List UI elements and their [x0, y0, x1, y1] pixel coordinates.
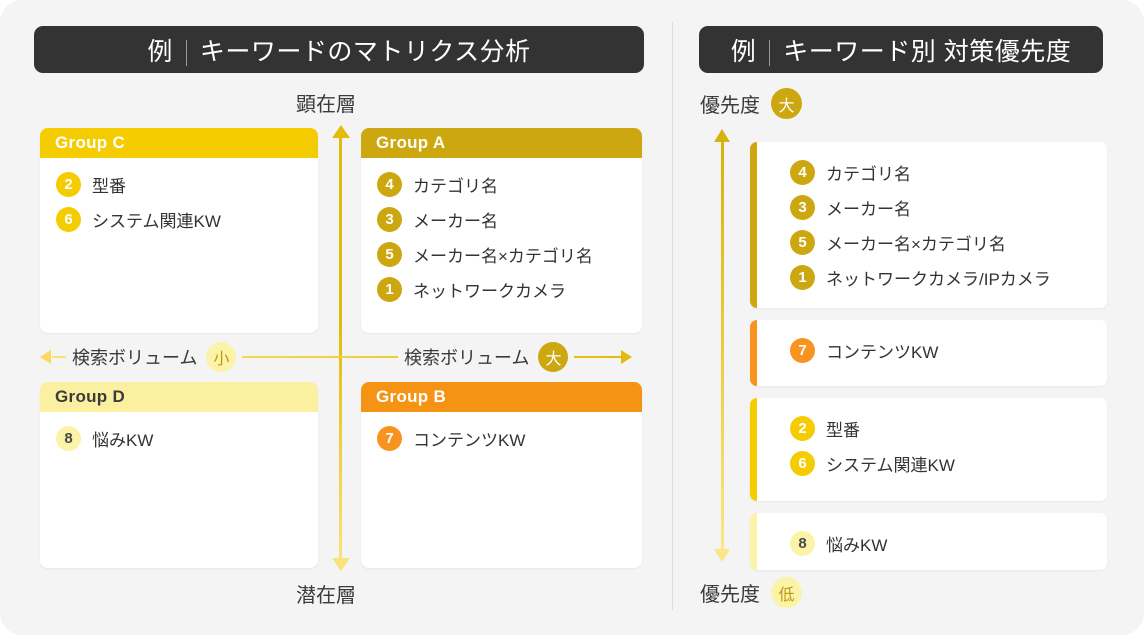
keyword-row: 3メーカー名 [361, 202, 642, 237]
vertical-axis-line [339, 131, 342, 561]
keyword-row: 6システム関連KW [40, 202, 318, 237]
matrix-card-group-c[interactable]: Group C2型番6システム関連KW [40, 128, 318, 333]
keyword-number-badge: 8 [790, 531, 815, 556]
card-body: 4カテゴリ名3メーカー名5メーカー名×カテゴリ名1ネットワークカメラ [361, 158, 642, 307]
right-panel-title-prefix: 例 [731, 32, 757, 68]
arrow-right-icon [621, 350, 632, 364]
keyword-number-badge: 7 [377, 426, 402, 451]
priority-arrow-down-icon [714, 549, 730, 562]
card-body: 2型番6システム関連KW [40, 158, 318, 237]
keyword-row: 1ネットワークカメラ/IPカメラ [774, 260, 1107, 295]
card-header: Group B [361, 382, 642, 412]
keyword-row: 2型番 [774, 411, 1107, 446]
volume-large-text: 検索ボリューム [404, 344, 529, 370]
keyword-number-badge: 3 [377, 207, 402, 232]
keyword-label: コンテンツKW [413, 426, 525, 451]
keyword-row: 5メーカー名×カテゴリ名 [774, 225, 1107, 260]
volume-small-badge: 小 [206, 342, 236, 372]
priority-high-label: 優先度 大 [700, 88, 802, 119]
priority-high-badge: 大 [771, 88, 802, 119]
keyword-label: カテゴリ名 [413, 172, 498, 197]
keyword-label: 型番 [826, 416, 860, 441]
keyword-row: 1ネットワークカメラ [361, 272, 642, 307]
keyword-label: ネットワークカメラ/IPカメラ [826, 265, 1051, 290]
axis-label-bottom: 潜在層 [296, 579, 356, 608]
keyword-label: メーカー名 [413, 207, 498, 232]
keyword-row: 3メーカー名 [774, 190, 1107, 225]
priority-low-text: 優先度 [700, 578, 760, 607]
keyword-row: 5メーカー名×カテゴリ名 [361, 237, 642, 272]
diagram-canvas: 例 キーワードのマトリクス分析 例 キーワード別 対策優先度 顕在層 潜在層 検… [0, 0, 1144, 635]
left-panel-title-prefix: 例 [147, 32, 173, 68]
keyword-row: 2型番 [40, 167, 318, 202]
card-header: Group C [40, 128, 318, 158]
priority-card-list: 7コンテンツKW [750, 320, 1107, 381]
left-panel-title-text: キーワードのマトリクス分析 [200, 32, 531, 68]
title-separator [186, 40, 187, 66]
priority-arrow-up-icon [714, 129, 730, 142]
right-panel-title: 例 キーワード別 対策優先度 [699, 26, 1103, 73]
keyword-number-badge: 2 [56, 172, 81, 197]
priority-color-edge [750, 320, 757, 386]
keyword-row: 7コンテンツKW [774, 333, 1107, 368]
keyword-label: メーカー名 [826, 195, 911, 220]
left-panel-title: 例 キーワードのマトリクス分析 [34, 26, 644, 73]
panel-divider [672, 22, 673, 610]
priority-card-list: 8悩みKW [750, 513, 1107, 570]
priority-card-list: 2型番6システム関連KW [750, 398, 1107, 494]
priority-low-label: 優先度 低 [700, 577, 802, 608]
priority-color-edge [750, 398, 757, 501]
axis-label-top: 顕在層 [296, 88, 356, 117]
priority-axis-line [721, 140, 724, 550]
keyword-number-badge: 5 [377, 242, 402, 267]
keyword-row: 8悩みKW [40, 421, 318, 456]
keyword-label: 型番 [92, 172, 126, 197]
arrow-left-icon [40, 350, 51, 364]
keyword-label: コンテンツKW [826, 338, 938, 363]
card-header: Group D [40, 382, 318, 412]
keyword-number-badge: 8 [56, 426, 81, 451]
title-separator [769, 40, 770, 66]
card-body: 7コンテンツKW [361, 412, 642, 456]
keyword-number-badge: 3 [790, 195, 815, 220]
matrix-card-group-b[interactable]: Group B7コンテンツKW [361, 382, 642, 568]
keyword-label: メーカー名×カテゴリ名 [826, 230, 1006, 255]
keyword-number-badge: 4 [377, 172, 402, 197]
priority-high-text: 優先度 [700, 89, 760, 118]
priority-card-list: 4カテゴリ名3メーカー名5メーカー名×カテゴリ名1ネットワークカメラ/IPカメラ [750, 142, 1107, 308]
keyword-number-badge: 1 [377, 277, 402, 302]
keyword-number-badge: 6 [790, 451, 815, 476]
keyword-label: システム関連KW [826, 451, 955, 476]
keyword-number-badge: 2 [790, 416, 815, 441]
keyword-number-badge: 1 [790, 265, 815, 290]
priority-card[interactable]: 2型番6システム関連KW [750, 398, 1107, 501]
keyword-number-badge: 5 [790, 230, 815, 255]
priority-color-edge [750, 142, 757, 308]
keyword-number-badge: 4 [790, 160, 815, 185]
keyword-row: 4カテゴリ名 [774, 155, 1107, 190]
priority-low-badge: 低 [771, 577, 802, 608]
matrix-card-group-a[interactable]: Group A4カテゴリ名3メーカー名5メーカー名×カテゴリ名1ネットワークカメ… [361, 128, 642, 333]
keyword-number-badge: 6 [56, 207, 81, 232]
keyword-row: 6システム関連KW [774, 446, 1107, 481]
volume-large-label: 検索ボリューム 大 [398, 342, 574, 372]
keyword-row: 8悩みKW [774, 526, 1107, 561]
priority-card[interactable]: 8悩みKW [750, 513, 1107, 570]
keyword-label: ネットワークカメラ [413, 277, 566, 302]
keyword-label: システム関連KW [92, 207, 221, 232]
arrow-down-icon [332, 558, 350, 571]
keyword-row: 4カテゴリ名 [361, 167, 642, 202]
keyword-row: 7コンテンツKW [361, 421, 642, 456]
arrow-up-icon [332, 125, 350, 138]
volume-small-text: 検索ボリューム [72, 344, 197, 370]
keyword-label: 悩みKW [92, 426, 153, 451]
card-body: 8悩みKW [40, 412, 318, 456]
keyword-label: カテゴリ名 [826, 160, 911, 185]
volume-small-label: 検索ボリューム 小 [66, 342, 242, 372]
card-header: Group A [361, 128, 642, 158]
priority-color-edge [750, 513, 757, 570]
right-panel-title-text: キーワード別 対策優先度 [783, 32, 1071, 68]
priority-card[interactable]: 7コンテンツKW [750, 320, 1107, 386]
keyword-label: メーカー名×カテゴリ名 [413, 242, 593, 267]
priority-card[interactable]: 4カテゴリ名3メーカー名5メーカー名×カテゴリ名1ネットワークカメラ/IPカメラ [750, 142, 1107, 308]
volume-large-badge: 大 [538, 342, 568, 372]
matrix-card-group-d[interactable]: Group D8悩みKW [40, 382, 318, 568]
keyword-label: 悩みKW [826, 531, 887, 556]
keyword-number-badge: 7 [790, 338, 815, 363]
